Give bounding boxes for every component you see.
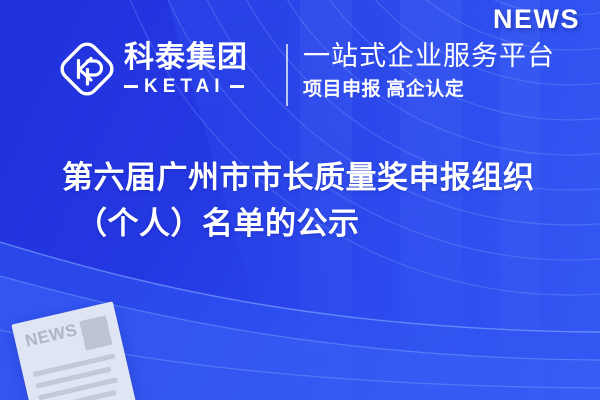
page-title-line-2: （个人）名单的公示 <box>62 201 562 247</box>
brand-name-cn: 科泰集团 <box>124 42 248 74</box>
newspaper-heading: NEWS <box>24 321 80 350</box>
slogan-sub: 项目申报 高企认定 <box>303 78 555 102</box>
news-banner: 科泰集团 KETAI 一站式企业服务平台 项目申报 高企认定 NEWS 第六届广… <box>0 0 600 400</box>
header-divider <box>286 44 288 106</box>
ketai-diamond-logo-icon <box>58 40 116 98</box>
news-label: NEWS <box>493 4 580 34</box>
brand-dash-left-icon <box>124 85 138 88</box>
banner-header: 科泰集团 KETAI 一站式企业服务平台 项目申报 高企认定 NEWS <box>0 0 600 140</box>
page-title-line-1: 第六届广州市市长质量奖申报组织 <box>62 160 535 195</box>
page-title: 第六届广州市市长质量奖申报组织 （个人）名单的公示 <box>62 155 562 247</box>
brand-logo[interactable]: 科泰集团 KETAI <box>58 40 248 98</box>
brand-wordmark: 科泰集团 KETAI <box>124 42 248 97</box>
newspaper-image-block-icon <box>79 315 112 350</box>
brand-name-en-row: KETAI <box>124 77 248 97</box>
slogan-main: 一站式企业服务平台 <box>303 40 555 72</box>
brand-name-en: KETAI <box>144 77 225 97</box>
brand-dash-right-icon <box>230 85 244 88</box>
slogan-block: 一站式企业服务平台 项目申报 高企认定 <box>303 40 555 102</box>
newspaper-text-lines <box>33 353 127 400</box>
